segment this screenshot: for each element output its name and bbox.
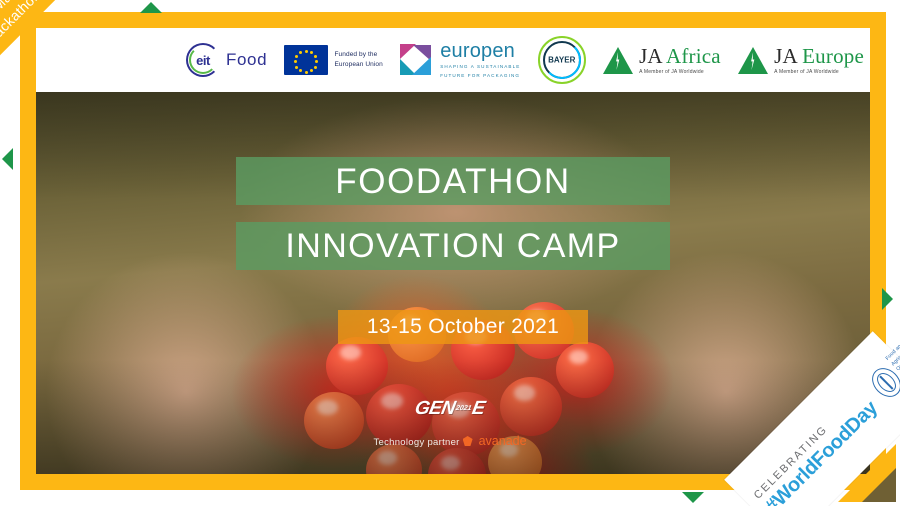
triangle-accent-top-icon bbox=[140, 2, 162, 13]
corner-ribbon: JA Marathon of Hackathons 2021 bbox=[0, 0, 260, 260]
gen-e-wordmark: GEN2021E bbox=[413, 398, 487, 420]
title-band-secondary: INNOVATION CAMP bbox=[236, 222, 670, 270]
ja-africa-sub: A Member of JA Worldwide bbox=[639, 69, 721, 75]
eu-funding-line1: Funded by the bbox=[334, 50, 382, 60]
europen-tagline-2: FUTURE FOR PACKAGING bbox=[440, 72, 520, 79]
europen-arrow-icon bbox=[400, 44, 434, 76]
funded-by-eu-logo: Funded by the European Union bbox=[284, 45, 382, 75]
ja-europe-region: Europe bbox=[802, 44, 864, 68]
ja-africa-text-block: JA Africa A Member of JA Worldwide bbox=[639, 46, 721, 75]
ja-africa-logo: JA Africa A Member of JA Worldwide bbox=[603, 46, 721, 75]
triangle-accent-right-icon bbox=[882, 288, 893, 310]
partner-label: Technology partner bbox=[373, 437, 459, 448]
bayer-logo: BAYER bbox=[538, 36, 586, 84]
poster-title-line1: FOODATHON bbox=[236, 164, 670, 199]
europen-tagline-1: SHAPING A SUSTAINABLE bbox=[440, 63, 520, 70]
ja-europe-logo: JA Europe A Member of JA Worldwide bbox=[738, 46, 864, 75]
bayer-cross-icon: BAYER bbox=[538, 36, 586, 84]
ja-africa-initials: JA bbox=[639, 44, 662, 68]
eu-funding-line2: European Union bbox=[334, 60, 382, 70]
europen-logo: europen SHAPING A SUSTAINABLE FUTURE FOR… bbox=[400, 41, 520, 80]
fao-line-1: Food and Agriculture bbox=[885, 331, 900, 368]
europen-text-block: europen SHAPING A SUSTAINABLE FUTURE FOR… bbox=[440, 41, 520, 80]
event-date: 13-15 October 2021 bbox=[338, 315, 588, 339]
ja-mountain-icon bbox=[603, 46, 633, 74]
ribbon-label: JA Marathon of Hackathons 2021 bbox=[0, 0, 151, 135]
ja-mountain-icon bbox=[738, 46, 768, 74]
ja-africa-region: Africa bbox=[666, 44, 721, 68]
fao-logo: Food and Agriculture Organization of the… bbox=[864, 331, 900, 405]
ja-europe-initials: JA bbox=[774, 44, 797, 68]
bayer-wordmark: BAYER bbox=[548, 56, 575, 63]
ja-europe-sub: A Member of JA Worldwide bbox=[774, 69, 864, 75]
date-band: 13-15 October 2021 bbox=[338, 310, 588, 344]
triangle-accent-left-icon bbox=[2, 148, 13, 170]
triangle-accent-bottom-icon bbox=[682, 492, 704, 503]
gen-e-prefix: GEN bbox=[413, 398, 457, 419]
ja-europe-wordmark: JA Europe bbox=[774, 46, 864, 67]
ja-europe-text-block: JA Europe A Member of JA Worldwide bbox=[774, 46, 864, 75]
eu-flag-icon bbox=[284, 45, 328, 75]
europen-wordmark: europen bbox=[440, 41, 520, 61]
corner-triangle-inner bbox=[862, 468, 896, 502]
ribbon-line-2: of Hackathons 2021 bbox=[0, 0, 76, 60]
avanade-icon bbox=[463, 436, 473, 446]
event-poster: FOODATHON INNOVATION CAMP 13-15 October … bbox=[0, 0, 900, 506]
gen-e-suffix: E bbox=[471, 398, 487, 419]
partner-name: avanade bbox=[479, 434, 527, 448]
eu-funding-text: Funded by the European Union bbox=[334, 50, 382, 70]
sponsor-logo-row: eit Food Funded by the Eur bbox=[180, 28, 870, 92]
gen-e-year: 2021 bbox=[455, 405, 472, 412]
title-band-primary: FOODATHON bbox=[236, 157, 670, 205]
poster-title-line2: INNOVATION CAMP bbox=[236, 229, 670, 263]
gen-e-logo: GEN2021E bbox=[0, 398, 900, 420]
ja-africa-wordmark: JA Africa bbox=[639, 46, 721, 67]
